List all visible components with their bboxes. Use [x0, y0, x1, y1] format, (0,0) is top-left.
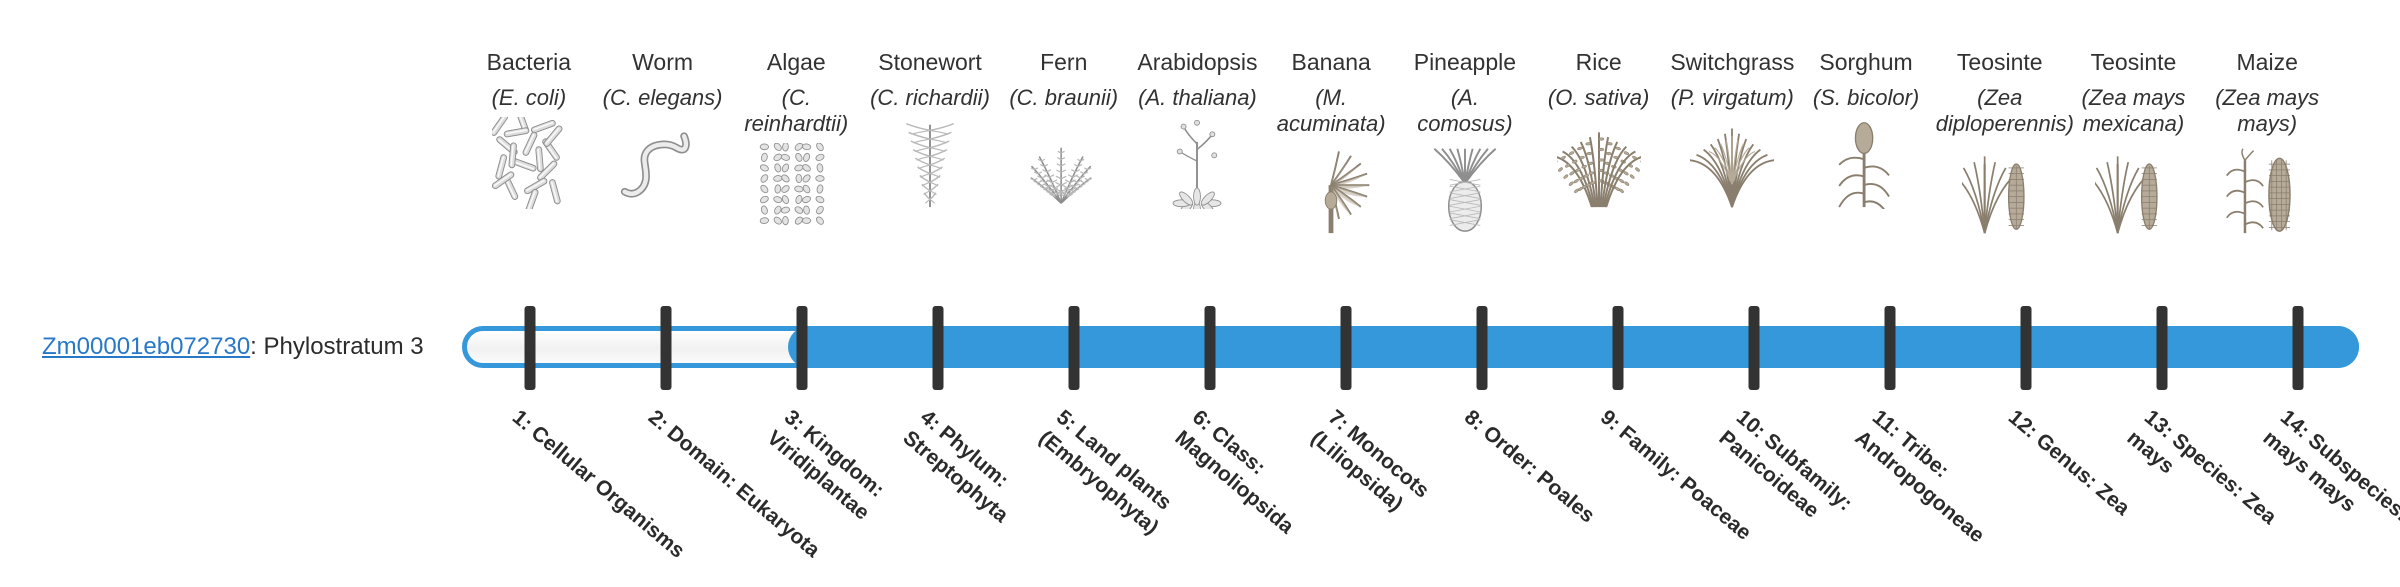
species-common-name: Fern	[1040, 48, 1087, 76]
rank-label: 2: Domain: Eukaryota	[643, 404, 829, 566]
worm-icon	[615, 117, 711, 209]
rank-label-text: 9: Family: Poaceae	[1596, 406, 1756, 545]
rank-label: 10: Subfamily: Panicoideae	[1713, 404, 1916, 587]
sorghum-icon	[1824, 117, 1908, 209]
species-common-name: Pineapple	[1414, 48, 1516, 76]
species-column: Pineapple(A. comosus)	[1398, 48, 1532, 298]
species-scientific-name: (P. virgatum)	[1668, 85, 1796, 111]
phylostratum-timeline: Zm00001eb072730: Phylostratum 3 Bacteria…	[0, 0, 2400, 580]
rank-label: 5: Land plants (Embryophyta)	[1033, 404, 1236, 587]
rank-label-text: 1: Cellular Organisms	[508, 406, 689, 563]
species-column: Banana(M. acuminata)	[1264, 48, 1398, 298]
rank-label: 9: Family: Poaceae	[1595, 404, 1781, 566]
gene-id-link[interactable]: Zm00001eb072730	[42, 333, 250, 360]
species-column: Bacteria(E. coli)	[462, 48, 596, 298]
phylostratum-progress-bar[interactable]	[462, 326, 2359, 368]
species-column: Stonewort(C. richardii)	[863, 48, 997, 298]
species-scientific-name: (Zea diploperennis)	[1936, 85, 2064, 137]
gene-label-separator: :	[250, 333, 263, 360]
rice-icon	[1557, 117, 1641, 209]
species-scientific-name: (A. thaliana)	[1133, 85, 1261, 111]
species-common-name: Switchgrass	[1670, 48, 1794, 76]
rank-label: 8: Order: Poales	[1459, 404, 1645, 566]
species-column: Switchgrass(P. virgatum)	[1665, 48, 1799, 298]
rank-label: 4: Phylum: Streptophyta	[897, 404, 1100, 587]
species-common-name: Rice	[1576, 48, 1622, 76]
rank-label-text: 3: Kingdom: Viridiplantae	[763, 406, 889, 525]
species-common-name: Worm	[632, 48, 693, 76]
species-common-name: Arabidopsis	[1137, 48, 1257, 76]
rank-label-text: 13: Species: Zea mays	[2123, 406, 2281, 529]
species-column: Worm(C. elegans)	[596, 48, 730, 298]
species-common-name: Teosinte	[2091, 48, 2177, 76]
rank-label: 13: Species: Zea mays	[2121, 404, 2324, 587]
progress-fill	[788, 326, 2359, 368]
rank-label-text: 11: Tribe: Andropogoneae	[1851, 406, 1989, 548]
rank-label: 14: Subspecies: Zea mays mays	[2257, 404, 2400, 587]
species-scientific-name: (A. comosus)	[1401, 85, 1529, 137]
rank-label-text: 10: Subfamily: Panicoideae	[1715, 406, 1857, 523]
species-column: Rice(O. sativa)	[1532, 48, 1666, 298]
species-common-name: Maize	[2237, 48, 2298, 76]
gene-phylostratum-label: Zm00001eb072730: Phylostratum 3	[42, 332, 424, 362]
species-column: Teosinte(Zea diploperennis)	[1933, 48, 2067, 298]
phylostratum-text: Phylostratum 3	[264, 333, 424, 360]
species-column: Sorghum(S. bicolor)	[1799, 48, 1933, 298]
species-columns: Bacteria(E. coli)Worm(C. elegans)Algae(C…	[462, 48, 2334, 298]
species-scientific-name: (C. braunii)	[1000, 85, 1128, 111]
rank-label-text: 6: Class: Magnoliopsida	[1171, 406, 1298, 539]
arabidopsis-icon	[1159, 117, 1235, 209]
species-column: Fern(C. braunii)	[997, 48, 1131, 298]
species-scientific-name: (Zea mays mays)	[2203, 85, 2331, 137]
maize-icon	[2224, 143, 2310, 235]
stonewort-icon	[892, 117, 968, 209]
species-scientific-name: (Zea mays mexicana)	[2069, 85, 2197, 137]
teosinte-mex-icon	[2095, 143, 2171, 235]
species-common-name: Banana	[1292, 48, 1371, 76]
rank-label-text: 12: Genus: Zea	[2004, 406, 2134, 520]
rank-label: 7: Monocots (Liliopsida)	[1305, 404, 1508, 587]
pineapple-icon	[1427, 143, 1503, 235]
species-column: Algae(C. reinhardtii)	[729, 48, 863, 298]
algae-icon	[759, 143, 833, 235]
species-scientific-name: (E. coli)	[465, 85, 593, 111]
species-scientific-name: (C. richardii)	[866, 85, 994, 111]
rank-label: 1: Cellular Organisms	[507, 404, 693, 566]
species-column: Arabidopsis(A. thaliana)	[1131, 48, 1265, 298]
species-scientific-name: (M. acuminata)	[1267, 85, 1395, 137]
rank-label-text: 7: Monocots (Liliopsida)	[1307, 406, 1434, 516]
species-column: Teosinte(Zea mays mexicana)	[2067, 48, 2201, 298]
bacteria-icon	[492, 117, 566, 209]
rank-label-text: 2: Domain: Eukaryota	[644, 406, 824, 562]
species-common-name: Bacteria	[487, 48, 571, 76]
rank-label: 12: Genus: Zea	[2003, 404, 2189, 566]
rank-label: 6: Class: Magnoliopsida	[1169, 404, 1372, 587]
rank-label-text: 14: Subspecies: Zea mays mays	[2259, 406, 2400, 553]
fern-icon	[1021, 117, 1107, 209]
species-scientific-name: (S. bicolor)	[1802, 85, 1930, 111]
species-scientific-name: (C. reinhardtii)	[732, 85, 860, 137]
species-scientific-name: (O. sativa)	[1535, 85, 1663, 111]
rank-label-text: 5: Land plants (Embryophyta)	[1035, 406, 1176, 540]
species-common-name: Sorghum	[1819, 48, 1912, 76]
rank-label: 3: Kingdom: Viridiplantae	[761, 404, 964, 587]
species-scientific-name: (C. elegans)	[599, 85, 727, 111]
banana-icon	[1289, 143, 1373, 235]
species-column: Maize(Zea mays mays)	[2200, 48, 2334, 298]
teosinte-diplo-icon	[1962, 143, 2038, 235]
rank-label: 11: Tribe: Andropogoneae	[1849, 404, 2052, 587]
species-common-name: Algae	[767, 48, 826, 76]
switchgrass-icon	[1690, 117, 1774, 209]
species-common-name: Stonewort	[878, 48, 982, 76]
rank-label-text: 4: Phylum: Streptophyta	[899, 406, 1013, 528]
rank-label-text: 8: Order: Poales	[1460, 406, 1599, 528]
species-common-name: Teosinte	[1957, 48, 2043, 76]
